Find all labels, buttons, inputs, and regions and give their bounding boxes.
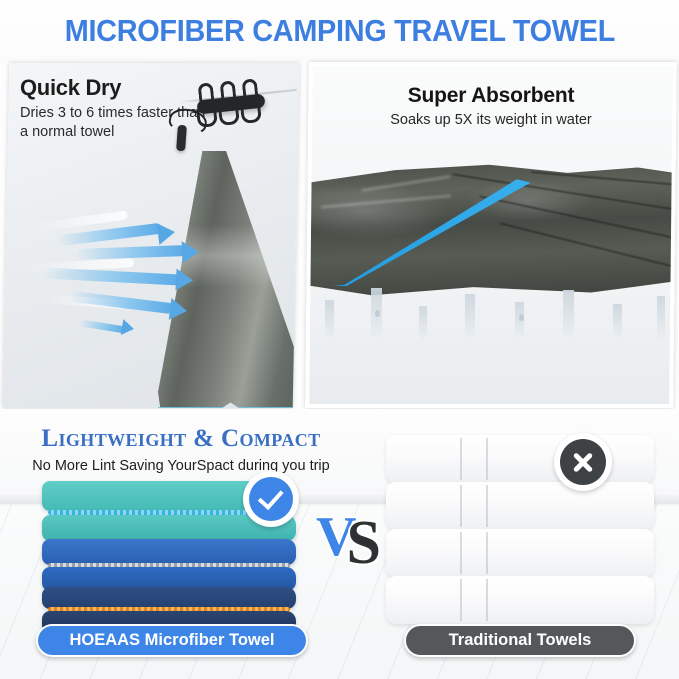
quick-dry-heading: Quick Dry	[20, 75, 121, 101]
vs-s: S	[346, 509, 376, 577]
airflow-arrows-icon	[24, 213, 209, 353]
panel-super-absorbent: Super Absorbent Soaks up 5X its weight i…	[305, 62, 677, 408]
list-item	[386, 529, 654, 577]
traditional-towel-stack	[386, 435, 656, 625]
microfiber-label-pill: HOEAAS Microfiber Towel	[36, 624, 308, 657]
hook-curve-3	[240, 103, 262, 124]
table-row	[42, 587, 296, 609]
hook-curve-2	[218, 105, 240, 126]
list-item	[386, 435, 654, 483]
traditional-label-pill: Traditional Towels	[404, 624, 636, 657]
comparison-heading: Lightweight & Compact	[36, 425, 326, 453]
comparison-section: Lightweight & Compact No More Lint Savin…	[0, 409, 679, 679]
hook-rack-icon	[191, 81, 287, 141]
check-mark	[257, 484, 283, 510]
panel-quick-dry: Quick Dry Dries 3 to 6 times faster than…	[3, 63, 300, 408]
list-item	[386, 482, 654, 530]
super-absorbent-subtext: Soaks up 5X its weight in water	[311, 112, 671, 128]
title-bar: MICROFIBER CAMPING TRAVEL TOWEL	[0, 0, 679, 62]
table-row	[42, 539, 296, 565]
vs-label: VS	[316, 501, 390, 569]
check-circle-icon	[243, 471, 299, 527]
comparison-subtext: No More Lint Saving YourSpact during you…	[16, 458, 346, 474]
carabiner-clip-icon	[176, 125, 187, 152]
wet-twisted-towel	[305, 162, 677, 340]
x-circle-fill	[560, 439, 606, 485]
super-absorbent-heading: Super Absorbent	[311, 84, 671, 108]
page-title: MICROFIBER CAMPING TRAVEL TOWEL	[64, 13, 614, 49]
list-item	[386, 576, 654, 624]
infographic-page: MICROFIBER CAMPING TRAVEL TOWEL Quick Dr…	[0, 0, 679, 679]
x-circle-icon	[554, 433, 612, 491]
check-circle-fill	[249, 477, 293, 521]
